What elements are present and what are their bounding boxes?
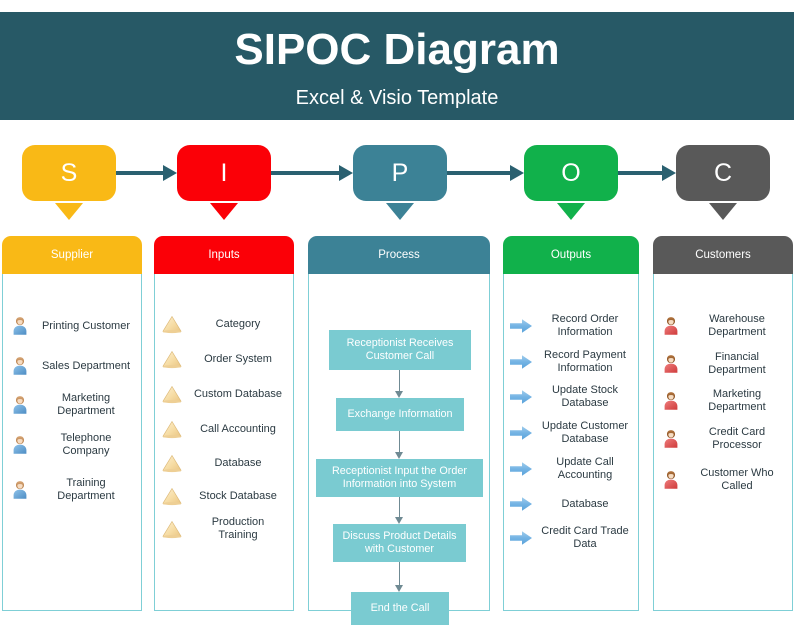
process-step-3[interactable]: Discuss Product Detailswith Customer [333, 524, 466, 562]
list-item[interactable]: Database [155, 450, 293, 476]
list-item-label: Credit Card TradeData [538, 525, 638, 551]
caret-i-icon [210, 203, 238, 220]
list-item-label: Custom Database [189, 388, 293, 401]
cone-tan-icon [155, 486, 189, 507]
process-step-label: Discuss Product Detailswith Customer [342, 530, 456, 556]
column-body-customers: WarehouseDepartmentFinancialDepartmentMa… [653, 274, 793, 611]
list-item-label: Update CallAccounting [538, 456, 638, 482]
page-subtitle: Excel & Visio Template [0, 72, 794, 108]
list-item[interactable]: Record OrderInformation [504, 313, 638, 339]
connector-line-3 [618, 171, 664, 175]
column-header-inputs: Inputs [154, 236, 294, 274]
letter-label: I [221, 159, 228, 188]
flow-connector-arrow-3-icon [395, 585, 403, 592]
letter-box-p[interactable]: P [353, 145, 447, 201]
caret-p-icon [386, 203, 414, 220]
arrow-blue-icon [504, 423, 538, 443]
caret-s-icon [55, 203, 83, 220]
person-blue-icon-supplier-4 [3, 479, 37, 501]
list-item[interactable]: Category [155, 311, 293, 337]
sipoc-columns: SupplierPrinting CustomerSales Departmen… [0, 236, 794, 611]
column-customers: CustomersWarehouseDepartmentFinancialDep… [653, 236, 793, 611]
flow-connector-arrow-1-icon [395, 452, 403, 459]
list-item-label: Credit CardProcessor [688, 426, 792, 452]
cone-tan-icon [155, 519, 189, 540]
process-step-1[interactable]: Exchange Information [336, 398, 464, 431]
column-header-label: Outputs [551, 249, 591, 261]
process-step-0[interactable]: Receptionist ReceivesCustomer Call [329, 330, 471, 370]
column-header-supplier: Supplier [2, 236, 142, 274]
letter-box-o[interactable]: O [524, 145, 618, 201]
list-item[interactable]: FinancialDepartment [654, 351, 792, 377]
process-step-4[interactable]: End the Call [351, 592, 449, 625]
letter-box-c[interactable]: C [676, 145, 770, 201]
cone-tan-icon [155, 419, 189, 440]
list-item-label: WarehouseDepartment [688, 313, 792, 339]
list-item[interactable]: Update StockDatabase [504, 384, 638, 410]
list-item-label: FinancialDepartment [688, 351, 792, 377]
person-blue-icon-supplier-2 [3, 394, 37, 416]
flow-connector-arrow-0-icon [395, 391, 403, 398]
column-outputs: OutputsRecord OrderInformationRecord Pay… [503, 236, 639, 611]
person-blue-icon-supplier-1 [3, 355, 37, 377]
flow-connector-line-2 [399, 497, 400, 518]
letter-box-i[interactable]: I [177, 145, 271, 201]
list-item-label: Record OrderInformation [538, 313, 638, 339]
letter-box-s[interactable]: S [22, 145, 116, 201]
list-item-label: Order System [189, 353, 293, 366]
letter-label: O [561, 159, 580, 188]
page-title: SIPOC Diagram [0, 12, 794, 72]
list-item[interactable]: ProductionTraining [155, 516, 293, 542]
column-process: ProcessReceptionist ReceivesCustomer Cal… [308, 236, 490, 611]
column-body-outputs: Record OrderInformationRecord PaymentInf… [503, 274, 639, 611]
list-item[interactable]: Credit CardProcessor [654, 426, 792, 452]
arrow-blue-icon [504, 352, 538, 372]
column-header-label: Inputs [208, 249, 239, 261]
cone-tan-icon [155, 349, 189, 370]
flow-connector-line-3 [399, 562, 400, 586]
connector-arrow-0-icon [163, 165, 177, 181]
arrow-blue-icon [504, 528, 538, 548]
flow-connector-line-1 [399, 431, 400, 453]
column-body-inputs: CategoryOrder SystemCustom DatabaseCall … [154, 274, 294, 611]
list-item[interactable]: Custom Database [155, 381, 293, 407]
caret-c-icon [709, 203, 737, 220]
list-item-label: TrainingDepartment [37, 477, 141, 503]
list-item[interactable]: Sales Department [3, 353, 141, 379]
list-item-label: Database [538, 498, 638, 511]
arrow-blue-icon [504, 459, 538, 479]
person-red-icon-customers-1 [654, 353, 688, 375]
flow-connector-line-0 [399, 370, 400, 392]
list-item[interactable]: TrainingDepartment [3, 477, 141, 503]
connector-arrow-3-icon [662, 165, 676, 181]
column-body-process: Receptionist ReceivesCustomer CallExchan… [308, 274, 490, 611]
list-item-label: Update StockDatabase [538, 384, 638, 410]
list-item[interactable]: Database [504, 491, 638, 517]
cone-tan-icon [155, 314, 189, 335]
list-item[interactable]: TelephoneCompany [3, 432, 141, 458]
list-item-label: Database [189, 457, 293, 470]
list-item[interactable]: Update CallAccounting [504, 456, 638, 482]
column-inputs: InputsCategoryOrder SystemCustom Databas… [154, 236, 294, 611]
connector-arrow-1-icon [339, 165, 353, 181]
column-header-label: Process [378, 249, 420, 261]
list-item-label: Sales Department [37, 360, 141, 373]
process-step-2[interactable]: Receptionist Input the OrderInformation … [316, 459, 483, 497]
letter-label: S [61, 159, 78, 188]
person-blue-icon-supplier-3 [3, 434, 37, 456]
arrow-blue-icon [504, 494, 538, 514]
list-item[interactable]: WarehouseDepartment [654, 313, 792, 339]
list-item-label: TelephoneCompany [37, 432, 141, 458]
list-item-label: Stock Database [189, 490, 293, 503]
list-item-label: Call Accounting [189, 423, 293, 436]
list-item-label: MarketingDepartment [688, 388, 792, 414]
list-item[interactable]: Stock Database [155, 483, 293, 509]
list-item[interactable]: MarketingDepartment [654, 388, 792, 414]
column-header-customers: Customers [653, 236, 793, 274]
list-item[interactable]: Printing Customer [3, 313, 141, 339]
list-item-label: ProductionTraining [189, 516, 293, 542]
person-blue-icon-supplier-0 [3, 315, 37, 337]
process-step-label: End the Call [371, 602, 430, 615]
flow-connector-arrow-2-icon [395, 517, 403, 524]
list-item[interactable]: Order System [155, 346, 293, 372]
cone-tan-icon [155, 453, 189, 474]
connector-line-0 [116, 171, 165, 175]
cone-tan-icon [155, 384, 189, 405]
list-item-label: MarketingDepartment [37, 392, 141, 418]
arrow-blue-icon [504, 316, 538, 336]
list-item-label: Update CustomerDatabase [538, 420, 638, 446]
list-item[interactable]: Call Accounting [155, 416, 293, 442]
list-item[interactable]: Credit Card TradeData [504, 525, 638, 551]
person-red-icon-customers-0 [654, 315, 688, 337]
connector-line-2 [447, 171, 512, 175]
list-item[interactable]: Update CustomerDatabase [504, 420, 638, 446]
column-header-outputs: Outputs [503, 236, 639, 274]
connector-arrow-2-icon [510, 165, 524, 181]
person-red-icon-customers-4 [654, 469, 688, 491]
title-banner: SIPOC Diagram Excel & Visio Template [0, 12, 794, 120]
person-red-icon-customers-3 [654, 428, 688, 450]
connector-line-1 [271, 171, 341, 175]
letter-label: P [392, 159, 409, 188]
column-header-process: Process [308, 236, 490, 274]
list-item[interactable]: MarketingDepartment [3, 392, 141, 418]
process-step-label: Receptionist ReceivesCustomer Call [347, 337, 454, 363]
column-header-label: Customers [695, 249, 751, 261]
process-step-label: Receptionist Input the OrderInformation … [332, 465, 467, 491]
column-body-supplier: Printing CustomerSales DepartmentMarketi… [2, 274, 142, 611]
list-item-label: Customer WhoCalled [688, 467, 792, 493]
list-item-label: Printing Customer [37, 320, 141, 333]
list-item[interactable]: Customer WhoCalled [654, 467, 792, 493]
column-header-label: Supplier [51, 249, 93, 261]
arrow-blue-icon [504, 387, 538, 407]
person-red-icon-customers-2 [654, 390, 688, 412]
list-item-label: Category [189, 318, 293, 331]
column-supplier: SupplierPrinting CustomerSales Departmen… [2, 236, 142, 611]
caret-o-icon [557, 203, 585, 220]
list-item-label: Record PaymentInformation [538, 349, 638, 375]
process-step-label: Exchange Information [347, 408, 452, 421]
sipoc-letter-row: SIPOC [0, 145, 794, 225]
letter-label: C [714, 159, 732, 188]
list-item[interactable]: Record PaymentInformation [504, 349, 638, 375]
